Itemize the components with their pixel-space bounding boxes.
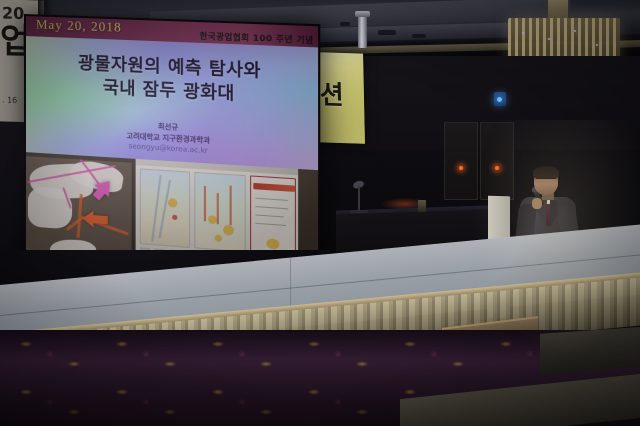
slide-title: 광물자원의 예측 탐사와 국내 잠두 광화대 <box>24 50 320 111</box>
figure-mineralization-model <box>194 172 245 253</box>
blue-indicator-light-icon <box>494 92 506 106</box>
ceiling-recess-a <box>378 30 396 35</box>
orange-arrow-icon <box>82 210 93 227</box>
eyeglasses-icon <box>535 178 557 182</box>
pendant-light-icon <box>358 16 367 48</box>
ceiling-recess-c <box>340 22 350 26</box>
conference-hall-photo: 별 세션 한국지질자원연구원 20 업 . 16 May 20, 2018 한국… <box>0 0 640 426</box>
slide-body: 광물자원의 예측 탐사와 국내 잠두 광화대 최선규 고려대학교 지구환경과학과… <box>24 36 320 170</box>
slide-date: May 20, 2018 <box>36 16 122 35</box>
loudspeaker-cabinet-right <box>480 122 514 200</box>
chandelier-stem <box>548 0 568 20</box>
table-microphone-base <box>350 210 368 213</box>
table-microphone-stand <box>358 186 360 212</box>
table-object <box>418 200 426 212</box>
poster-number: 20 <box>2 3 24 23</box>
ceiling-recess-b <box>412 34 426 38</box>
presenter-hand <box>532 198 542 209</box>
figure-cross-section <box>140 168 190 248</box>
poster-small-text: . 16 <box>2 95 17 104</box>
loudspeaker-cabinet-left <box>444 122 478 200</box>
foreground-table-right <box>540 326 640 374</box>
